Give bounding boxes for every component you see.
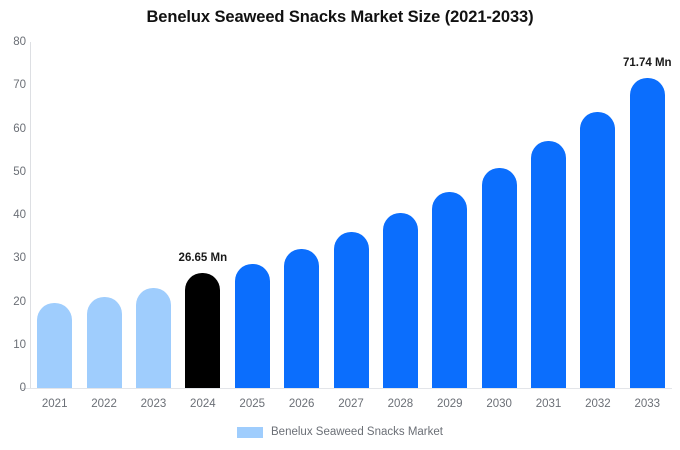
x-axis-tick-label-2029: 2029 — [437, 398, 463, 410]
bar-2033[interactable] — [630, 78, 665, 388]
bar-2023[interactable] — [136, 288, 171, 388]
x-axis-tick-label-2024: 2024 — [190, 398, 216, 410]
bar-2029[interactable] — [432, 192, 467, 388]
x-axis-tick-label-2026: 2026 — [289, 398, 315, 410]
bar-rect[interactable] — [630, 78, 665, 388]
bar-2031[interactable] — [531, 141, 566, 388]
bar-rect[interactable] — [235, 264, 270, 388]
bars-layer: 20212022202326.65 Mn20242025202620272028… — [0, 0, 680, 450]
bar-rect[interactable] — [334, 232, 369, 388]
legend-swatch — [237, 427, 263, 438]
x-axis-tick-label-2030: 2030 — [486, 398, 512, 410]
bar-rect[interactable] — [185, 273, 220, 388]
bar-rect[interactable] — [37, 303, 72, 388]
bar-rect[interactable] — [383, 213, 418, 388]
chart-container: Benelux Seaweed Snacks Market Size (2021… — [0, 0, 680, 450]
x-axis-tick-label-2032: 2032 — [585, 398, 611, 410]
bar-2027[interactable] — [334, 232, 369, 388]
bar-rect[interactable] — [136, 288, 171, 388]
bar-2030[interactable] — [482, 168, 517, 388]
x-axis-tick-label-2031: 2031 — [536, 398, 562, 410]
x-axis-tick-label-2033: 2033 — [635, 398, 661, 410]
bar-2024[interactable] — [185, 273, 220, 388]
bar-value-label-2024: 26.65 Mn — [179, 252, 228, 264]
x-axis-tick-label-2028: 2028 — [388, 398, 414, 410]
bar-value-label-2033: 71.74 Mn — [623, 57, 672, 69]
x-axis-tick-label-2022: 2022 — [91, 398, 117, 410]
bar-2021[interactable] — [37, 303, 72, 388]
bar-2028[interactable] — [383, 213, 418, 388]
legend-label: Benelux Seaweed Snacks Market — [271, 426, 443, 438]
bar-rect[interactable] — [284, 249, 319, 388]
x-axis-tick-label-2023: 2023 — [141, 398, 167, 410]
bar-2032[interactable] — [580, 112, 615, 388]
x-axis-tick-label-2027: 2027 — [338, 398, 364, 410]
bar-rect[interactable] — [432, 192, 467, 388]
bar-rect[interactable] — [87, 297, 122, 388]
bar-rect[interactable] — [580, 112, 615, 388]
bar-2026[interactable] — [284, 249, 319, 388]
bar-rect[interactable] — [482, 168, 517, 388]
bar-rect[interactable] — [531, 141, 566, 388]
x-axis-tick-label-2021: 2021 — [42, 398, 68, 410]
x-axis-tick-label-2025: 2025 — [239, 398, 265, 410]
chart-legend: Benelux Seaweed Snacks Market — [0, 426, 680, 438]
bar-2025[interactable] — [235, 264, 270, 388]
bar-2022[interactable] — [87, 297, 122, 388]
